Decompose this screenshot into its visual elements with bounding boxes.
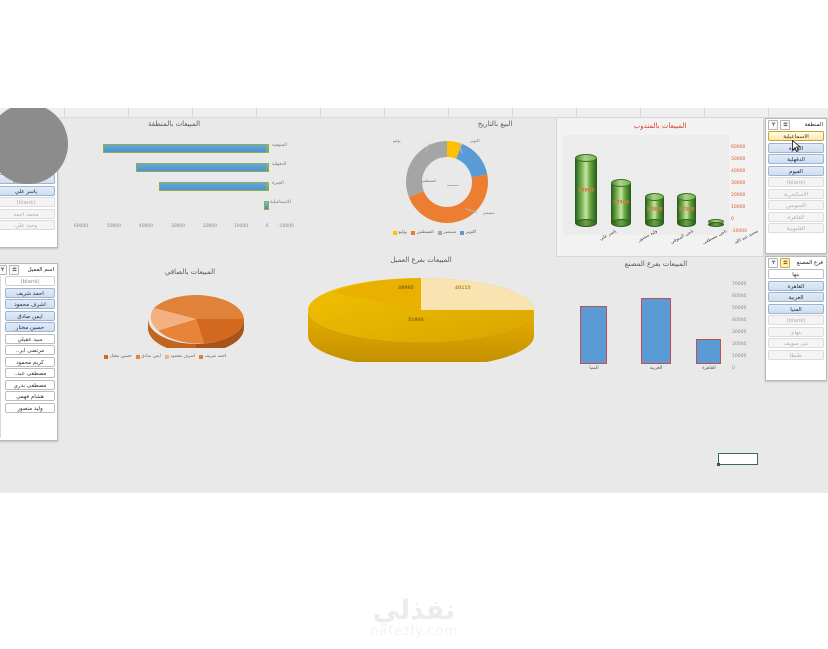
legend-label: اكتوبر: [466, 230, 477, 235]
legend-item[interactable]: اغسطس: [411, 230, 434, 235]
legend-item[interactable]: اكتوبر: [460, 230, 476, 235]
legend-item[interactable]: حسين مختار: [104, 354, 132, 359]
multi-select-icon[interactable]: [780, 258, 790, 268]
chart-sales-by-region[interactable]: المبيعات بالمنطقة المنوفية الدقهلية الجي…: [58, 120, 290, 248]
slicer-item[interactable]: بنى سويف: [768, 338, 824, 348]
chart-sales-by-customer-branch[interactable]: المبيعات بفرع العميل: [290, 256, 552, 366]
plot-area-sales-by-salesman: 55800 33500 22900 22300: [563, 135, 729, 235]
pie-data-label: 51860: [408, 318, 424, 323]
slicer-item[interactable]: مصطفى بدري: [5, 380, 55, 390]
cylinder-bar-2: 22900: [645, 193, 664, 227]
bar-value-label: 55800: [575, 188, 597, 193]
bar-cap: [266, 163, 269, 172]
legend-item[interactable]: ايمن صادق: [136, 354, 161, 359]
bar-category-label: الجيزة: [272, 181, 284, 186]
bar-category-label: وليد منصور: [637, 229, 658, 243]
legend-label: سبتمبر: [443, 230, 456, 235]
bar-row: [58, 182, 290, 191]
bar-sales-by-factory-branch-2: [696, 339, 721, 364]
bar-sales-by-region-3: [264, 201, 269, 210]
bar-category-label: الاسماعيلية: [270, 200, 291, 205]
slicer-item[interactable]: مرتضى ابر..: [5, 345, 55, 355]
slicer-item[interactable]: (blank): [0, 197, 55, 207]
bar-category-label: الدقهلية: [272, 162, 286, 167]
bar-category-label: المنيا: [589, 366, 598, 371]
y-tick: 20000: [732, 342, 746, 347]
slicer-item[interactable]: الجيزة: [768, 143, 824, 153]
x-axis-sales-by-region: 60000 50000 40000 30000 20000 10000 0 -1…: [58, 224, 290, 234]
x-tick: 60000: [74, 224, 88, 229]
slicer-item[interactable]: ياسر علي: [0, 186, 55, 196]
slicer-item[interactable]: (blank): [768, 315, 824, 325]
slicer-item[interactable]: المنيا: [768, 304, 824, 314]
bar-cap: [266, 144, 269, 153]
chart-sales-by-factory-branch[interactable]: المبيعات بفرع المصنع المنيا الغربية القا…: [556, 260, 764, 380]
chart-title-sales-by-salesman: المبيعات بالمندوب: [557, 122, 763, 130]
pie3d-sales-by-customer: [142, 286, 250, 348]
slicer-item[interactable]: وحيد علي: [0, 220, 55, 230]
slicer-item[interactable]: محمد احمد: [0, 209, 55, 219]
cylinder-top: [611, 179, 631, 187]
y-tick: 0: [731, 217, 734, 222]
clear-filter-icon[interactable]: [768, 258, 778, 268]
legend-swatch: [393, 231, 397, 235]
pie3d-svg: [302, 270, 540, 362]
slicer-region-header: المنطقة: [768, 120, 824, 129]
slicer-item[interactable]: الاسكندرية: [768, 189, 824, 199]
slicer-factory-branch[interactable]: فرع المصنع بنها القاهرة الغربية المنيا (…: [765, 256, 827, 381]
column-header[interactable]: [640, 108, 705, 117]
watermark-arabic: نفذلي: [0, 595, 828, 626]
y-axis-sales-by-salesman: 60000 50000 40000 30000 20000 10000 0 -1…: [731, 135, 763, 239]
leader-line: [447, 185, 459, 186]
slicer-customer-name[interactable]: اسم العميل ▲ (blank) احمد شريف اشرف محمو…: [0, 263, 58, 441]
cylinder-bottom: [677, 219, 696, 227]
y-tick: 50000: [731, 157, 745, 162]
dashboard-canvas: المبيعات بالمنطقة المنوفية الدقهلية الجي…: [0, 108, 828, 493]
chart-title-sales-by-customer-branch: المبيعات بفرع العميل: [290, 256, 552, 264]
slicer-factory-branch-header: فرع المصنع: [768, 258, 824, 267]
legend-label: ايمن صادق: [141, 354, 161, 359]
y-tick: 20000: [731, 193, 745, 198]
cylinder-bottom: [645, 219, 664, 227]
legend-swatch: [136, 355, 140, 359]
y-tick: 0: [732, 366, 735, 371]
slicer-item[interactable]: وليد منصور: [5, 403, 55, 413]
slicer-item[interactable]: القاهرة: [768, 212, 824, 222]
doughnut-data-label: اكتوبر: [470, 138, 480, 143]
x-tick: -10000: [278, 224, 294, 229]
y-tick: 60000: [731, 145, 745, 150]
pie-data-label: 38995: [398, 286, 414, 291]
column-header[interactable]: [192, 108, 257, 117]
bar-cap: [266, 182, 269, 191]
legend-swatch: [165, 355, 169, 359]
chart-title-sales-by-region: المبيعات بالمنطقة: [58, 120, 290, 128]
legend-label: احمد شريف: [205, 354, 227, 359]
slicer-factory-branch-list: بنها القاهرة الغربية المنيا (blank) بنها…: [768, 269, 824, 360]
slicer-item[interactable]: الغربية: [768, 292, 824, 302]
bar-value-label: 22300: [677, 208, 696, 213]
slicer-item[interactable]: مصطفى عبد..: [5, 368, 55, 378]
bar-sales-by-region-2: [159, 182, 268, 191]
plot-area-sales-by-factory-branch: المنيا الغربية القاهرة: [562, 276, 728, 370]
chart-sales-by-date[interactable]: البيع بالتاريخ يوليو اكتوبر اغسطس سبتمبر…: [375, 120, 560, 250]
slicer-item[interactable]: ايمن صادق: [5, 311, 55, 321]
slicer-item[interactable]: القاهرة: [768, 281, 824, 291]
column-header[interactable]: [704, 108, 769, 117]
x-tick: 20000: [203, 224, 217, 229]
slicer-item[interactable]: السويس: [768, 200, 824, 210]
plot-area-sales-by-region: المنوفية الدقهلية الجيزة الاسماعيلية: [58, 138, 290, 222]
bar-category-label: المنوفية: [272, 143, 287, 148]
y-tick: 50000: [732, 306, 746, 311]
column-header[interactable]: [576, 108, 641, 117]
legend-label: اشرف محمود: [170, 354, 195, 359]
y-tick: 40000: [731, 169, 745, 174]
y-tick: 40000: [732, 318, 746, 323]
watermark-latin: nafezly.com: [0, 624, 828, 639]
slicer-item[interactable]: القليوبية: [768, 223, 824, 233]
clear-filter-icon[interactable]: [768, 120, 778, 130]
x-tick: 40000: [139, 224, 153, 229]
slicer-item[interactable]: هشام فهمي: [5, 391, 55, 401]
legend-label: اغسطس: [417, 230, 434, 235]
slicer-item[interactable]: احمد شريف: [5, 288, 55, 298]
y-tick: -10000: [731, 229, 747, 234]
legend-item[interactable]: سبتمبر: [438, 230, 456, 235]
legend-swatch: [199, 355, 203, 359]
selected-cell[interactable]: [718, 453, 758, 465]
column-header[interactable]: [256, 108, 321, 117]
watermark: نفذلي nafezly.com: [0, 595, 828, 639]
legend-item[interactable]: احمد شريف: [199, 354, 226, 359]
column-header[interactable]: [448, 108, 513, 117]
x-tick: 0: [266, 224, 269, 229]
bar-value-label: 33500: [611, 201, 631, 206]
y-axis-sales-by-factory-branch: 70000 60000 50000 40000 30000 20000 1000…: [732, 276, 762, 372]
bar-sales-by-region-0: [103, 144, 268, 153]
chart-sales-by-salesman[interactable]: المبيعات بالمندوب 55800 33500 22900: [556, 117, 764, 257]
cylinder-bottom: [708, 222, 724, 227]
column-header[interactable]: [768, 108, 828, 117]
column-header[interactable]: [512, 108, 577, 117]
slicer-item[interactable]: سيد عقيلي: [5, 334, 55, 344]
chart-title-sales-by-customer: المبيعات بالصافي: [100, 268, 280, 276]
slicer-item[interactable]: بنها: [768, 269, 824, 279]
legend-item[interactable]: اشرف محمود: [165, 354, 195, 359]
legend-swatch: [411, 231, 415, 235]
cylinder-bar-1: 33500: [611, 179, 631, 227]
cylinder-bar-4: [708, 219, 724, 227]
legend-sales-by-date: يوليو اغسطس سبتمبر اكتوبر: [393, 230, 476, 235]
bar-category-label: الغربية: [650, 366, 662, 371]
bar-sales-by-region-1: [136, 163, 268, 172]
pie-data-label: 40115: [455, 286, 471, 291]
slicer-item[interactable]: كريم محمود: [5, 357, 55, 367]
bar-category-label: ناجى مصطفى: [702, 229, 728, 246]
chart-sales-by-customer[interactable]: المبيعات بالصافي حسين مختار ايمن صادق اش…: [100, 268, 280, 368]
bar-category-label: القاهرة: [702, 366, 715, 371]
slicer-buttons: [768, 120, 790, 130]
legend-swatch: [104, 355, 108, 359]
chart-title-sales-by-factory-branch: المبيعات بفرع المصنع: [576, 260, 736, 268]
x-tick: 30000: [171, 224, 185, 229]
fill-handle[interactable]: [717, 463, 720, 466]
legend-sales-by-customer: حسين مختار ايمن صادق اشرف محمود احمد شري…: [104, 354, 226, 359]
slicer-region[interactable]: المنطقة الاسماعيلية الجيزة الدقهلية الفي…: [765, 118, 827, 254]
slicer-item[interactable]: الدقهلية: [768, 154, 824, 164]
cylinder-bar-3: 22300: [677, 193, 696, 227]
bar-row: [58, 201, 290, 210]
bar-category-label: ياسر علي: [599, 229, 617, 242]
column-header[interactable]: [320, 108, 385, 117]
bar-sales-by-factory-branch-0: [580, 306, 607, 364]
legend-swatch: [460, 231, 464, 235]
y-tick: 70000: [732, 282, 746, 287]
doughnut-data-label: سبتمبر: [483, 210, 495, 215]
doughnut-data-label: اغسطس: [421, 178, 436, 183]
cylinder-top: [677, 193, 696, 201]
slicer-title: المنطقة: [805, 122, 824, 128]
column-header[interactable]: [384, 108, 449, 117]
slicer-region-list: الاسماعيلية الجيزة الدقهلية الفيوم (blan…: [768, 131, 824, 233]
doughnut-data-label: يوليو: [393, 138, 401, 143]
doughnut-svg: [403, 138, 491, 226]
x-tick: 10000: [234, 224, 248, 229]
y-tick: 10000: [732, 354, 746, 359]
slicer-customer-name-header: اسم العميل: [0, 265, 55, 274]
legend-item[interactable]: يوليو: [393, 230, 407, 235]
multi-select-icon[interactable]: [780, 120, 790, 130]
y-tick: 30000: [731, 181, 745, 186]
chart-title-sales-by-date: البيع بالتاريخ: [435, 120, 555, 128]
slicer-customer-name-list: (blank) احمد شريف اشرف محمود ايمن صادق ح…: [5, 276, 55, 413]
slicer-item[interactable]: الاسماعيلية: [768, 131, 824, 141]
multi-select-icon[interactable]: [9, 265, 19, 275]
pie3d-sales-by-customer-branch: [302, 270, 540, 362]
bar-row: [58, 144, 290, 153]
slicer-scrollbar[interactable]: ▲: [0, 276, 1, 438]
clear-filter-icon[interactable]: [0, 265, 7, 275]
cylinder-bottom: [611, 219, 631, 227]
column-header[interactable]: [64, 108, 129, 117]
legend-swatch: [438, 231, 442, 235]
pie3d-svg: [142, 286, 250, 348]
bar-category-label: ناجى المنوفي: [670, 229, 695, 245]
cylinder-bottom: [575, 219, 597, 227]
slicer-item[interactable]: حسين مختار: [5, 322, 55, 332]
slicer-item[interactable]: اشرف محمود: [5, 299, 55, 309]
y-tick: 60000: [732, 294, 746, 299]
cylinder-bar-0: 55800: [575, 154, 597, 227]
slicer-title: فرع المصنع: [797, 260, 824, 266]
x-tick: 50000: [107, 224, 121, 229]
doughnut-sales-by-date: [403, 138, 491, 226]
cylinder-top: [645, 193, 664, 201]
legend-label: حسين مختار: [110, 354, 132, 359]
bar-value-label: 22900: [645, 208, 664, 213]
column-header[interactable]: [128, 108, 193, 117]
y-tick: 30000: [732, 330, 746, 335]
legend-label: يوليو: [399, 230, 408, 235]
slicer-item[interactable]: بنهاي: [768, 327, 824, 337]
slicer-item[interactable]: طنطا: [768, 350, 824, 360]
cylinder-top: [575, 154, 597, 162]
slicer-buttons: [0, 265, 19, 275]
slicer-buttons: [768, 258, 790, 268]
bar-row: [58, 163, 290, 172]
bar-sales-by-factory-branch-1: [641, 298, 671, 364]
slicer-item[interactable]: (blank): [768, 177, 824, 187]
slicer-item[interactable]: الفيوم: [768, 166, 824, 176]
slicer-title: اسم العميل: [28, 267, 55, 273]
slicer-item[interactable]: (blank): [5, 276, 55, 286]
y-tick: 10000: [731, 205, 745, 210]
